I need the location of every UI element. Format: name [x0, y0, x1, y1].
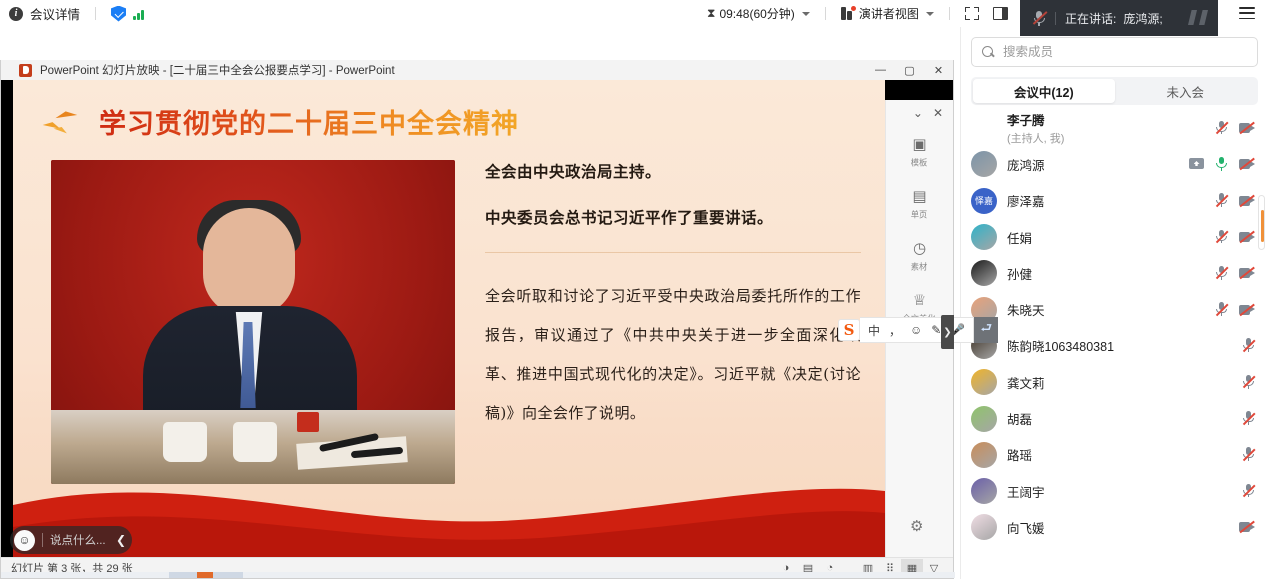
split-view-button[interactable]: [986, 0, 1015, 27]
participant-name: 李子腾: [1007, 110, 1215, 129]
rail-icon: ♕: [910, 290, 929, 309]
camera-off-icon[interactable]: [1239, 521, 1255, 533]
slide-show-area[interactable]: 学习贯彻党的二十届三中全会精神: [1, 80, 953, 557]
punctuation-icon[interactable]: ，: [889, 322, 901, 339]
search-input[interactable]: [1003, 45, 1247, 59]
fullscreen-icon: [965, 7, 979, 20]
speaking-speaker-name: 庞鸿源;: [1123, 10, 1162, 27]
shield-check-icon[interactable]: [111, 6, 126, 22]
meeting-details-label: 会议详情: [30, 4, 80, 23]
rail-item-2[interactable]: ◷素材: [910, 238, 929, 273]
participant-list[interactable]: 李子腾(主持人, 我)庞鸿源怿嘉廖泽嘉任娟孙健朱晓天陈韵晓1063480381龚…: [961, 110, 1268, 579]
participant-role: (主持人, 我): [1007, 130, 1215, 146]
meeting-details-group[interactable]: i 会议详情: [0, 4, 144, 23]
slide-line-2: 中央委员会总书记习近平作了重要讲话。: [485, 206, 861, 228]
hamburger-menu-icon[interactable]: [1239, 7, 1255, 20]
divider: [825, 7, 826, 20]
participant-name-block: 孙健: [1007, 264, 1215, 283]
search-icon: [982, 46, 995, 59]
avatar: [971, 478, 997, 504]
powerpoint-window: PowerPoint 幻灯片放映 - [二十届三中全会公报要点学习] - Pow…: [0, 60, 954, 579]
fullscreen-button[interactable]: [958, 0, 986, 27]
speaking-now-overlay: 正在讲话: 庞鸿源;: [1020, 0, 1218, 36]
participant-list-scrollbar[interactable]: [1258, 195, 1265, 250]
participant-tabs: 会议中(12) 未入会: [971, 77, 1258, 105]
ime-button-group: 中，☺✎🎤: [860, 317, 974, 343]
close-button[interactable]: ✕: [924, 60, 953, 80]
rail-item-0[interactable]: ▣模板: [910, 134, 929, 169]
view-mode-label: 演讲者视图: [859, 5, 919, 22]
mic-muted-icon[interactable]: [1242, 338, 1255, 353]
xi-jinping-speech-photo: [51, 160, 455, 484]
participant-name: 龚文莉: [1007, 373, 1242, 392]
participant-row[interactable]: 陈韵晓1063480381: [961, 328, 1268, 364]
chinese-mode-icon[interactable]: 中: [868, 322, 880, 339]
meeting-timer[interactable]: ⧗ 09:48(60分钟): [700, 0, 817, 27]
gear-icon[interactable]: ⚙: [910, 517, 923, 535]
avatar: [971, 115, 997, 141]
participant-row[interactable]: 任娟: [961, 219, 1268, 255]
avatar: [971, 224, 997, 250]
participant-status-icons: [1215, 121, 1255, 136]
divider: [42, 533, 43, 547]
meeting-chat-input-bar[interactable]: ☺ 说点什么... ❮: [10, 526, 132, 554]
rail-window-controls: ⌄ ✕: [886, 100, 953, 120]
participant-name-block: 庞鸿源: [1007, 155, 1189, 174]
mic-on-icon[interactable]: [1215, 157, 1228, 172]
participant-name: 庞鸿源: [1007, 155, 1189, 174]
participant-status-icons: [1215, 230, 1255, 245]
rail-icon: ◷: [910, 238, 929, 257]
avatar: [971, 260, 997, 286]
slide-body: 全会由中央政治局主持。 中央委员会总书记习近平作了重要讲话。 全会听取和讨论了习…: [13, 141, 885, 484]
participant-row[interactable]: 路瑶: [961, 437, 1268, 473]
slide-text-column: 全会由中央政治局主持。 中央委员会总书记习近平作了重要讲话。 全会听取和讨论了习…: [485, 160, 885, 484]
chevron-down-icon: [802, 12, 810, 16]
mic-muted-icon: [1032, 10, 1046, 26]
participant-status-icons: [1242, 447, 1255, 462]
speaking-label: 正在讲话:: [1065, 10, 1116, 27]
participant-name-block: 王阔宇: [1007, 482, 1242, 501]
chat-placeholder[interactable]: 说点什么...: [50, 532, 110, 548]
mic-muted-icon[interactable]: [1215, 302, 1228, 317]
slide-divider: [485, 252, 861, 253]
participant-name-block: 路瑶: [1007, 445, 1242, 464]
split-view-icon: [993, 7, 1008, 20]
participant-status-icons: [1215, 302, 1255, 317]
network-signal-icon[interactable]: [133, 8, 144, 20]
participant-status-icons: [1239, 521, 1255, 533]
mic-muted-icon[interactable]: [1242, 484, 1255, 499]
powerpoint-title-bar[interactable]: PowerPoint 幻灯片放映 - [二十届三中全会公报要点学习] - Pow…: [1, 60, 953, 80]
camera-off-icon[interactable]: [1239, 122, 1255, 134]
rail-label: 模板: [911, 157, 928, 169]
slide-line-1: 全会由中央政治局主持。: [485, 160, 861, 182]
view-mode-selector[interactable]: 演讲者视图: [834, 0, 941, 27]
participant-name: 孙健: [1007, 264, 1215, 283]
tab-not-joined[interactable]: 未入会: [1115, 79, 1257, 103]
divider: [1055, 12, 1056, 25]
camera-off-icon[interactable]: [1239, 231, 1255, 243]
participant-row[interactable]: 胡磊: [961, 400, 1268, 436]
participant-row[interactable]: 龚文莉: [961, 364, 1268, 400]
participant-name-block: 龚文莉: [1007, 373, 1242, 392]
mic-muted-icon[interactable]: [1242, 411, 1255, 426]
divider: [95, 7, 96, 20]
participant-name: 王阔宇: [1007, 482, 1242, 501]
participant-status-icons: [1215, 266, 1255, 281]
camera-off-icon[interactable]: [1239, 267, 1255, 279]
participant-row[interactable]: 孙健: [961, 255, 1268, 291]
meeting-timer-label: 09:48(60分钟): [719, 5, 794, 22]
flying-birds-icon: [41, 107, 89, 137]
rail-item-1[interactable]: ▤单页: [910, 186, 929, 221]
emoji-icon[interactable]: ☺: [910, 323, 922, 337]
avatar: [971, 151, 997, 177]
participant-row[interactable]: 怿嘉廖泽嘉: [961, 183, 1268, 219]
participant-name-block: 廖泽嘉: [1007, 191, 1215, 210]
participant-name: 陈韵晓1063480381: [1007, 336, 1242, 355]
mic-muted-icon[interactable]: [1242, 375, 1255, 390]
participant-name: 路瑶: [1007, 445, 1242, 464]
slide-wave-decoration: [13, 457, 885, 557]
slide-header: 学习贯彻党的二十届三中全会精神: [13, 80, 885, 141]
participant-name: 胡磊: [1007, 409, 1242, 428]
participants-panel: 会议中(12) 未入会 李子腾(主持人, 我)庞鸿源怿嘉廖泽嘉任娟孙健朱晓天陈韵…: [960, 27, 1268, 579]
mic-muted-icon[interactable]: [1215, 230, 1228, 245]
participant-name: 向飞媛: [1007, 518, 1239, 537]
rail-icon: ▣: [910, 134, 929, 153]
rail-label: 素材: [911, 261, 928, 273]
participant-name-block: 李子腾(主持人, 我): [1007, 110, 1215, 146]
presenter-icon: [841, 7, 855, 20]
rail-icon: ▤: [910, 186, 929, 205]
participant-name: 任娟: [1007, 228, 1215, 247]
powerpoint-window-title: PowerPoint 幻灯片放映 - [二十届三中全会公报要点学习] - Pow…: [40, 62, 395, 78]
rail-label: 单页: [911, 209, 928, 221]
camera-off-icon[interactable]: [1239, 304, 1255, 316]
camera-off-icon[interactable]: [1239, 195, 1255, 207]
participant-status-icons: [1242, 484, 1255, 499]
divider: [949, 7, 950, 20]
search-box[interactable]: [971, 37, 1258, 67]
tab-in-meeting[interactable]: 会议中(12): [973, 79, 1115, 103]
screen-share-icon[interactable]: [1189, 158, 1204, 171]
info-icon: i: [9, 7, 23, 21]
avatar: [971, 514, 997, 540]
participant-name-block: 任娟: [1007, 228, 1215, 247]
participant-row[interactable]: 庞鸿源: [961, 146, 1268, 182]
screen-root: i 会议详情 ⧗ 09:48(60分钟) 演讲者视图: [0, 0, 1268, 579]
participant-row[interactable]: 李子腾(主持人, 我): [961, 110, 1268, 146]
participant-row[interactable]: 王阔宇: [961, 473, 1268, 509]
avatar: 怿嘉: [971, 188, 997, 214]
participant-name-block: 向飞媛: [1007, 518, 1239, 537]
participant-status-icons: [1215, 193, 1255, 208]
rail-item-list: ▣模板▤单页◷素材♕全文美化: [886, 134, 953, 325]
taskbar-item-active[interactable]: [197, 572, 213, 578]
rail-collapse-button[interactable]: ⌄: [913, 106, 923, 120]
slide-paragraph: 全会听取和讨论了习近平受中央政治局委托所作的工作报告，审议通过了《中共中央关于进…: [485, 277, 861, 433]
participant-status-icons: [1189, 157, 1255, 172]
camera-off-icon[interactable]: [1239, 158, 1255, 170]
participant-row[interactable]: 向飞媛: [961, 509, 1268, 545]
participant-name-block: 陈韵晓1063480381: [1007, 336, 1242, 355]
participant-name-block: 胡磊: [1007, 409, 1242, 428]
panel-collapse-handle[interactable]: ❯: [941, 315, 954, 349]
hourglass-icon: ⧗: [707, 6, 715, 21]
mic-muted-icon[interactable]: [1215, 266, 1228, 281]
maximize-button[interactable]: ▢: [895, 60, 924, 80]
mic-muted-icon[interactable]: [1215, 121, 1228, 136]
avatar: [971, 406, 997, 432]
powerpoint-icon: [19, 64, 32, 77]
collapse-left-icon[interactable]: ❮: [110, 533, 132, 547]
emoji-icon[interactable]: ☺: [14, 530, 35, 551]
ime-toolbox-icon[interactable]: ⮐: [974, 317, 998, 343]
participant-name-block: 朱晓天: [1007, 300, 1215, 319]
slide-title: 学习贯彻党的二十届三中全会精神: [99, 102, 519, 141]
participant-name: 廖泽嘉: [1007, 191, 1215, 210]
minimize-button[interactable]: —: [866, 60, 895, 80]
participant-status-icons: [1242, 411, 1255, 426]
mic-muted-icon[interactable]: [1242, 447, 1255, 462]
rail-close-button[interactable]: ✕: [933, 106, 943, 120]
participant-status-icons: [1242, 338, 1255, 353]
app-watermark-icon: [1188, 10, 1208, 25]
participant-row[interactable]: 朱晓天: [961, 291, 1268, 327]
window-controls: — ▢ ✕: [866, 60, 953, 80]
participant-status-icons: [1242, 375, 1255, 390]
participant-name: 朱晓天: [1007, 300, 1215, 319]
avatar: [971, 369, 997, 395]
chevron-down-icon: [926, 12, 934, 16]
sogou-ime-logo[interactable]: S: [838, 319, 860, 341]
avatar: [971, 442, 997, 468]
handwriting-icon[interactable]: ✎: [931, 323, 941, 337]
sogou-ime-toolbar[interactable]: S 中，☺✎🎤 ⮐: [838, 317, 998, 343]
slide-canvas: 学习贯彻党的二十届三中全会精神: [13, 80, 885, 557]
mic-muted-icon[interactable]: [1215, 193, 1228, 208]
taskbar-sliver: [1, 572, 955, 578]
